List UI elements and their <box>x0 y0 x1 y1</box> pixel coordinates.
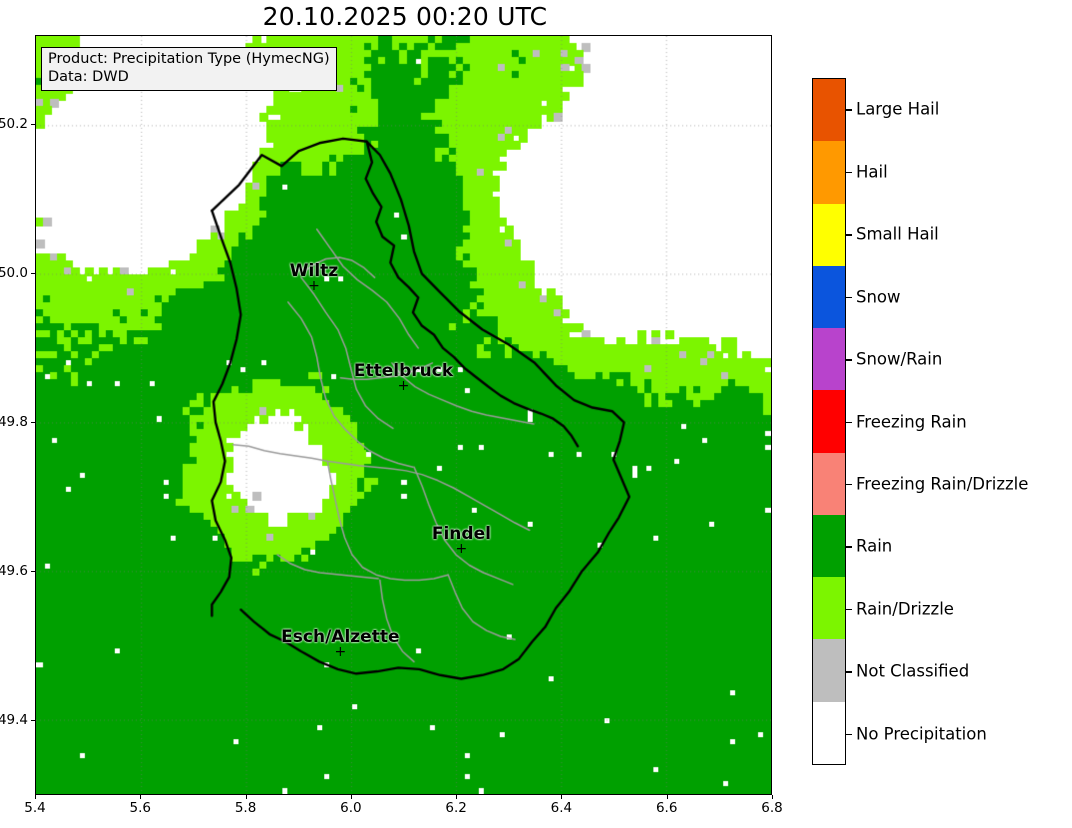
y-axis-tick <box>31 571 35 572</box>
x-axis-tick-label: 5.8 <box>235 800 256 816</box>
legend-tick <box>846 234 852 236</box>
border-overlay <box>36 36 771 794</box>
legend-swatch-hail[interactable] <box>813 141 845 203</box>
x-axis-tick-label: 6.4 <box>551 800 572 816</box>
x-axis-tick <box>561 795 562 799</box>
legend-label-snow-rain: Snow/Rain <box>856 350 942 369</box>
y-axis-tick-label: 49.8 <box>0 414 28 430</box>
x-axis-tick-label: 6.2 <box>445 800 466 816</box>
legend-label-large-hail: Large Hail <box>856 100 939 119</box>
y-axis-tick-label: 49.4 <box>0 712 28 728</box>
x-axis-tick-label: 6.6 <box>656 800 677 816</box>
legend-tick <box>846 172 852 174</box>
legend-label-freezing-rain-drizzle: Freezing Rain/Drizzle <box>856 474 1028 493</box>
legend-tick <box>846 109 852 111</box>
legend-tick <box>846 546 852 548</box>
x-axis-tick <box>246 795 247 799</box>
legend-swatch-freezing-rain-drizzle[interactable] <box>813 453 845 515</box>
x-axis-tick <box>772 795 773 799</box>
y-axis-tick <box>31 720 35 721</box>
legend-tick <box>846 671 852 673</box>
y-axis-tick-label: 49.6 <box>0 563 28 579</box>
legend-colorbar[interactable] <box>812 78 846 765</box>
x-axis-tick <box>140 795 141 799</box>
legend-tick <box>846 734 852 736</box>
x-axis-tick <box>35 795 36 799</box>
x-axis-tick-label: 6.0 <box>340 800 361 816</box>
legend-label-snow: Snow <box>856 287 901 306</box>
product-line: Product: Precipitation Type (HymecNG) <box>48 51 330 69</box>
x-axis-tick-label: 5.6 <box>130 800 151 816</box>
legend-swatch-rain[interactable] <box>813 515 845 577</box>
legend-label-freezing-rain: Freezing Rain <box>856 412 967 431</box>
legend-swatch-rain-drizzle[interactable] <box>813 577 845 639</box>
legend-swatch-snow-rain[interactable] <box>813 328 845 390</box>
legend-swatch-no-precipitation[interactable] <box>813 702 845 764</box>
y-axis-tick <box>31 422 35 423</box>
legend-tick <box>846 609 852 611</box>
legend-swatch-small-hail[interactable] <box>813 204 845 266</box>
x-axis-tick-label: 6.8 <box>761 800 782 816</box>
precipitation-type-map-page: 20.10.2025 00:20 UTC Product: Precipitat… <box>0 0 1072 828</box>
y-axis-tick-label: 50.2 <box>0 116 28 132</box>
legend-label-rain-drizzle: Rain/Drizzle <box>856 599 954 618</box>
y-axis-tick <box>31 273 35 274</box>
legend-tick <box>846 359 852 361</box>
legend-swatch-not-classified[interactable] <box>813 639 845 701</box>
x-axis-tick-label: 5.4 <box>24 800 45 816</box>
legend-tick <box>846 484 852 486</box>
x-axis-tick <box>456 795 457 799</box>
legend-label-not-classified: Not Classified <box>856 662 969 681</box>
legend-label-hail: Hail <box>856 162 888 181</box>
x-axis-tick <box>351 795 352 799</box>
map-plot-area[interactable] <box>35 35 772 795</box>
product-info-box: Product: Precipitation Type (HymecNG) Da… <box>41 47 337 91</box>
legend-label-small-hail: Small Hail <box>856 225 939 244</box>
y-axis-tick-label: 50.0 <box>0 265 28 281</box>
legend-swatch-large-hail[interactable] <box>813 79 845 141</box>
page-title: 20.10.2025 00:20 UTC <box>0 2 810 31</box>
legend-swatch-freezing-rain[interactable] <box>813 390 845 452</box>
x-axis-tick <box>667 795 668 799</box>
legend-label-rain: Rain <box>856 537 892 556</box>
legend-tick <box>846 422 852 424</box>
legend-swatch-snow[interactable] <box>813 266 845 328</box>
legend-label-no-precipitation: No Precipitation <box>856 724 987 743</box>
legend-tick <box>846 297 852 299</box>
y-axis-tick <box>31 124 35 125</box>
data-source-line: Data: DWD <box>48 69 330 87</box>
